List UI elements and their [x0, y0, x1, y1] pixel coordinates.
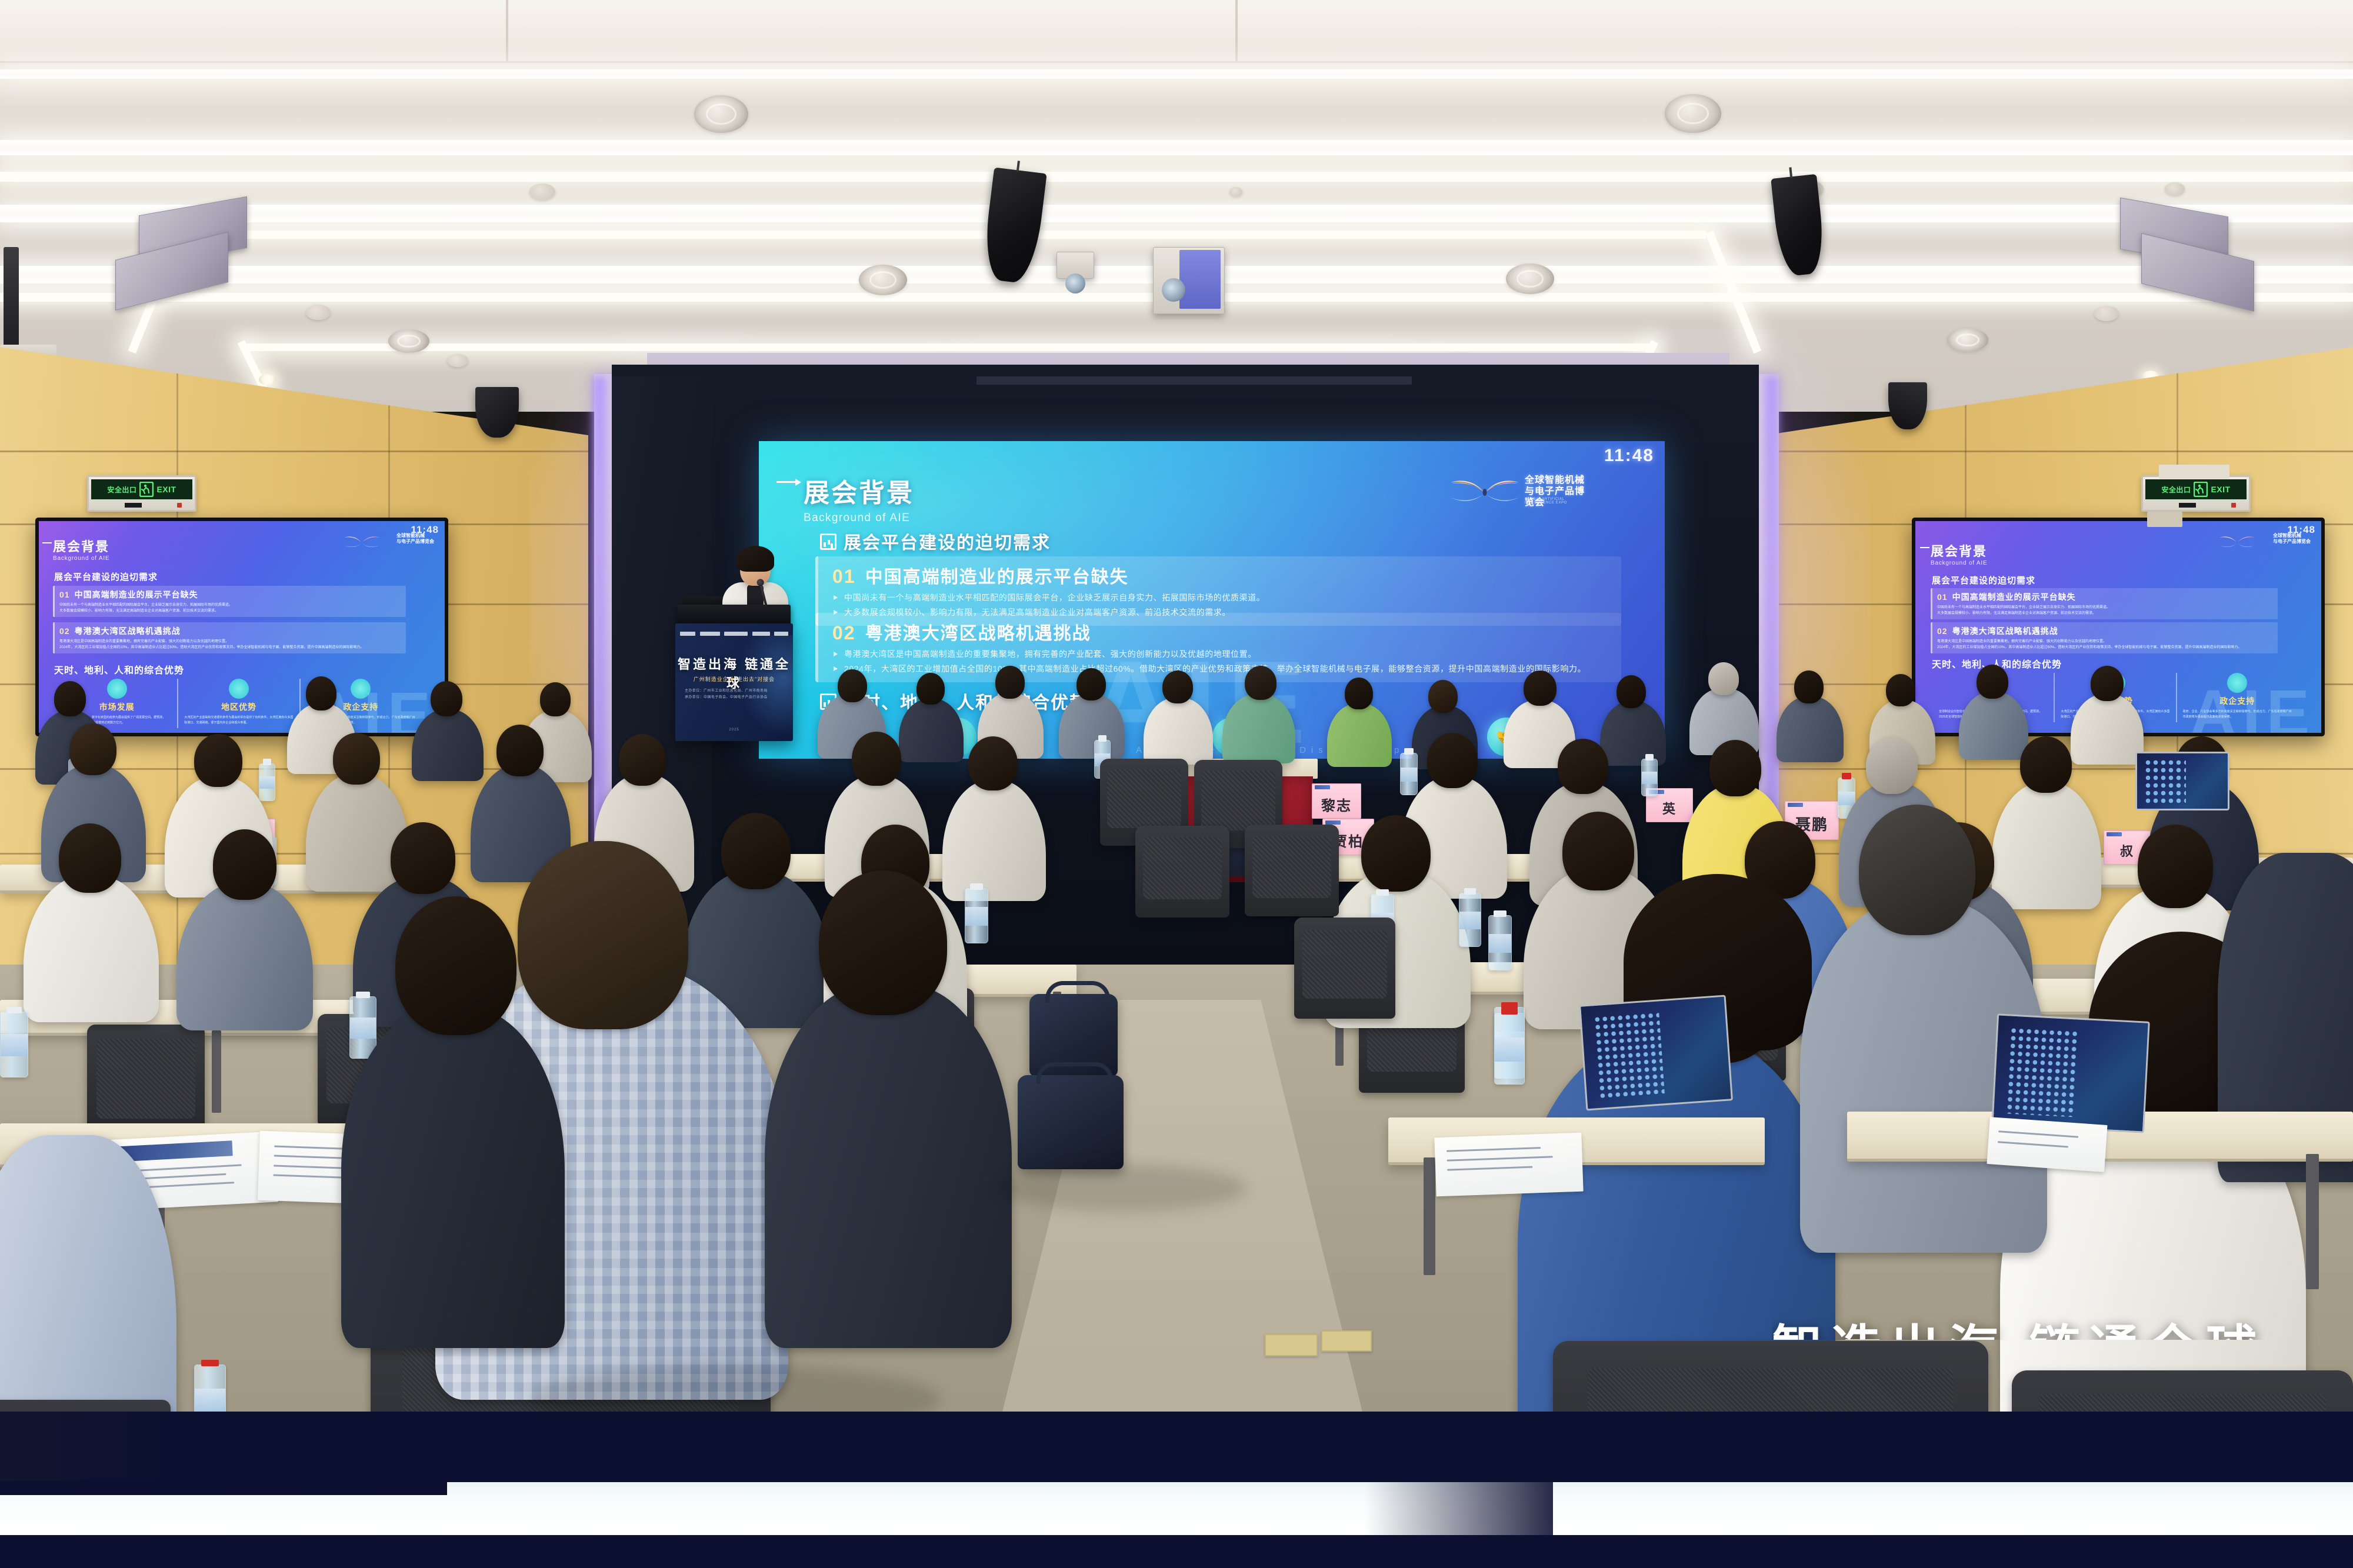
foreground-head — [819, 870, 947, 1015]
right-display-card-01: 01中国高端制造业的展示平台缺失 中国尚未有一个与高端制造业水平相匹配的国际展会… — [1931, 588, 2278, 619]
audience-head — [1245, 666, 1277, 700]
audience-head — [391, 822, 455, 894]
audience-head — [2020, 736, 2072, 793]
overlay-band-navy-bottom — [0, 1535, 2353, 1568]
overlay-band-notch-2 — [0, 1481, 447, 1495]
left-display-section-2: 天时、地利、人和的综合优势 — [54, 662, 184, 676]
overlay-band-notch — [0, 1412, 447, 1484]
audience-head — [213, 829, 276, 900]
backpack — [1018, 1075, 1124, 1169]
water-bottle — [1459, 893, 1481, 947]
bottle-label — [1459, 912, 1481, 930]
arrow-icon — [1920, 547, 1929, 548]
water-bottle — [0, 1012, 28, 1077]
podium-banner: 智造出海 链通全球 广州制造业企业"走出去"对接会 主办单位：广州市工业和信息化… — [675, 623, 793, 741]
podium-sub-slogan: 广州制造业企业"走出去"对接会 — [675, 675, 793, 683]
exit-sign-right: 安全出口 EXIT — [2141, 475, 2251, 512]
ceiling-projector — [1153, 247, 1225, 314]
audience-head — [1427, 733, 1478, 788]
exit-sign-label-en: EXIT — [2211, 485, 2230, 494]
audience-head — [1859, 805, 1975, 935]
ceiling-top-slab — [0, 0, 2353, 62]
name-card-logo — [2107, 832, 2122, 836]
card-heading: 01中国高端制造业的展示平台缺失 — [832, 562, 1611, 588]
audience-head — [995, 666, 1025, 699]
audience-head — [1886, 674, 1915, 706]
name-card-text: 黎志 — [1312, 794, 1361, 815]
water-bottle — [1641, 759, 1658, 796]
smoke-detector — [306, 305, 331, 320]
sponsor-logo — [700, 632, 720, 636]
audience-head — [1794, 670, 1824, 703]
conference-hall-photo: AIE Bay Area Intelligence Display Expo 1… — [0, 0, 2353, 1568]
audience-head — [1708, 662, 1739, 695]
audience-head — [2091, 666, 2124, 701]
bottle-label — [1, 1034, 28, 1056]
ceiling-downlight — [259, 374, 276, 385]
sponsor-logo — [752, 632, 770, 636]
floor-shadow — [1000, 1165, 1247, 1212]
card-bullet: 2024年，大湾区的工业增加值占全国的10%，其中高端制造业占比超过60%。借助… — [832, 663, 1611, 676]
handout — [1987, 1117, 2107, 1172]
exit-sign-label-cn: 安全出口 — [107, 485, 136, 495]
water-bottle — [1400, 753, 1418, 795]
audience-head — [852, 732, 901, 786]
hvac-diffuser — [1665, 94, 1721, 133]
bottle-label — [350, 1017, 376, 1038]
audience-head — [1866, 738, 1918, 794]
presenter-hair — [736, 546, 774, 572]
bottle-label — [1401, 768, 1417, 782]
desk-leg — [2306, 1154, 2319, 1289]
ceiling-light-band — [0, 140, 2353, 155]
right-display-title-group: 展会背景 Background of AIE — [1931, 541, 1987, 566]
audience-head — [619, 734, 666, 786]
audience-head — [721, 813, 791, 889]
foreground-person-navy — [341, 1007, 565, 1348]
projector-lens — [1162, 278, 1185, 302]
hvac-diffuser — [1506, 263, 1554, 294]
bottle-label — [195, 1389, 225, 1412]
advantage-column: 地区优势 大湾区的产业基础和交通便利条件为展会的举办提供了有利条件。大湾区拥有众… — [177, 679, 299, 728]
left-display-title-group: 展会背景 Background of AIE — [53, 536, 109, 562]
globe-network-icon — [107, 679, 127, 699]
smoke-detector — [1229, 187, 1242, 196]
hvac-diffuser — [1947, 328, 1988, 352]
audience-head — [1709, 740, 1761, 796]
laptop-screen — [1579, 995, 1733, 1110]
smoke-detector — [2094, 306, 2119, 321]
audience-chair — [1135, 826, 1229, 918]
left-display-subtitle: Background of AIE — [53, 555, 109, 562]
card-bullet: 粤港澳大湾区是中国高端制造业的重要集聚地，拥有完善的产业配套、强大的创新能力以及… — [832, 648, 1611, 661]
exit-sign-label-en: EXIT — [156, 485, 176, 494]
audience-head — [838, 669, 867, 702]
audience-head — [1345, 678, 1373, 709]
butterfly-logo-icon — [2219, 534, 2255, 551]
left-side-display: 11:48 全球智能机械 与电子产品博览会 展会背景 Background of… — [35, 518, 448, 736]
ceiling-projector-secondary — [1056, 252, 1094, 279]
right-display-card-02: 02粤港澳大湾区战略机遇挑战 粤港澳大湾区是中国高端制造业的重要集聚地，拥有完善… — [1931, 622, 2278, 653]
laptop-screen — [1991, 1013, 2150, 1133]
exit-sign-label-cn: 安全出口 — [2161, 485, 2191, 495]
name-card: 黎志 — [1312, 783, 1361, 819]
lectern-top — [678, 605, 791, 626]
wall-panel — [2159, 465, 2229, 479]
audience-head — [306, 676, 336, 710]
laptop-app-grid — [1593, 1012, 1665, 1098]
overlay-band-fade — [1365, 1482, 1553, 1536]
laptop-screen — [2135, 752, 2229, 810]
bottle-label — [259, 776, 275, 789]
foreground-person-dark — [765, 983, 1012, 1348]
hvac-diffuser — [694, 95, 748, 133]
hvac-diffuser — [388, 329, 429, 353]
audience-head — [1162, 670, 1193, 703]
section-heading-1: 展会平台建设的迫切需求 — [820, 528, 1051, 554]
aie-logo: 全球智能机械 与电子产品博览会 GLOBAL ARTIFICIAL INTELL… — [1449, 474, 1591, 509]
left-display-card-01: 01中国高端制造业的展示平台缺失 中国尚未有一个与高端制造业水平相匹配的国际展会… — [53, 586, 406, 617]
slide-title: 展会背景 — [804, 472, 914, 509]
card-bullet: 中国尚未有一个与高端制造业水平相匹配的国际展会平台，企业缺乏展示自身实力、拓展国… — [832, 592, 1611, 605]
audience-head — [1524, 670, 1557, 706]
right-display-logo-title: 全球智能机械 与电子产品博览会 — [2273, 533, 2311, 545]
bottle-label — [1489, 934, 1511, 952]
audience-head — [1977, 665, 2008, 699]
stage-ceiling-trim — [976, 376, 1412, 385]
audience-head — [968, 736, 1018, 790]
right-display-title: 展会背景 — [1931, 541, 1987, 560]
laptop-app-grid — [2006, 1027, 2079, 1117]
sponsor-logo — [724, 632, 748, 636]
arrow-icon — [776, 481, 800, 483]
aie-watermark: AIE — [2190, 676, 2315, 733]
audience-head — [333, 733, 380, 785]
desk-leg — [212, 1030, 221, 1113]
smoke-detector — [2165, 182, 2185, 195]
projector-lens — [1065, 273, 1085, 293]
section-marker-icon — [820, 533, 836, 550]
hvac-diffuser — [859, 265, 907, 295]
bottle-label — [965, 907, 988, 925]
slide-subtitle: Background of AIE — [804, 512, 914, 525]
handout — [1434, 1133, 1583, 1197]
slide-title-group: 展会背景 Background of AIE — [804, 472, 914, 525]
city-skyline-icon — [229, 679, 249, 699]
screen-clock: 11:48 — [1604, 446, 1654, 466]
projector-indicator — [1179, 250, 1221, 309]
water-bottle — [1488, 915, 1512, 970]
arrow-icon — [42, 542, 52, 543]
audience-head — [194, 734, 242, 787]
foreground-head — [518, 841, 688, 1029]
podium-sponsor-logos — [680, 630, 788, 636]
audience-head — [540, 682, 571, 716]
butterfly-logo-icon — [344, 534, 380, 551]
card-number: 02 — [832, 622, 856, 643]
audience-chair — [1294, 918, 1395, 1019]
ceiling — [0, 0, 2353, 412]
sponsor-logo — [680, 632, 695, 636]
audience-head — [496, 725, 544, 776]
audience-head — [431, 681, 462, 716]
water-bottle — [349, 996, 376, 1059]
smoke-detector — [529, 184, 555, 200]
water-bottle — [1494, 1013, 1525, 1085]
audience-laptop — [2135, 752, 2229, 810]
audience-head — [69, 723, 116, 775]
left-display-title: 展会背景 — [53, 536, 109, 555]
smoke-detector — [447, 354, 468, 367]
podium-organizers: 主办单位：广州市工业和信息化局、广州市商务局 承办单位：中国电子商会、中国电子产… — [685, 688, 784, 702]
floor-marker — [1321, 1330, 1372, 1352]
left-display-logo-title: 全球智能机械 与电子产品博览会 — [396, 533, 434, 545]
audience-head — [1428, 680, 1458, 713]
aie-logo-subtitle: GLOBAL ARTIFICIAL INTELLIGENCE EXPO — [1525, 498, 1591, 505]
ceiling-seam — [506, 0, 508, 61]
water-bottle — [965, 888, 988, 943]
audience-laptop — [1579, 995, 1733, 1110]
card-number: 01 — [832, 566, 856, 587]
audience-head — [54, 681, 86, 716]
desk-leg — [1424, 1157, 1435, 1275]
ceiling-light-band — [0, 205, 2353, 222]
audience-head — [1558, 739, 1608, 794]
running-person-icon — [2194, 482, 2208, 497]
name-card-logo — [1788, 803, 1803, 807]
audience-head — [2138, 825, 2213, 908]
foreground-head — [395, 896, 516, 1035]
ceiling-light-strip — [0, 172, 2353, 182]
bottle-label — [1495, 1037, 1524, 1062]
audience-head — [1562, 812, 1634, 890]
audience-laptop — [1991, 1013, 2150, 1133]
audience-head — [59, 823, 121, 893]
right-display-section-1: 展会平台建设的迫切需求 — [1932, 574, 2035, 586]
butterfly-logo-icon — [1449, 476, 1520, 507]
left-display-card-02: 02粤港澳大湾区战略机遇挑战 粤港澳大湾区是中国高端制造业的重要集聚地，拥有完善… — [53, 622, 406, 653]
floor-marker — [1265, 1334, 1318, 1356]
laptop-app-grid — [2144, 759, 2186, 803]
ceiling-light-band — [0, 69, 2353, 79]
sponsor-logo — [774, 632, 788, 636]
exit-sign-left: 安全出口 EXIT — [87, 475, 196, 512]
card-heading: 02粤港澳大湾区战略机遇挑战 — [832, 619, 1611, 645]
ceiling-seam — [1235, 0, 1238, 61]
ceiling-seam — [0, 61, 2353, 63]
audience-head — [1617, 675, 1646, 708]
water-bottle — [259, 763, 275, 801]
audience-head — [916, 673, 945, 705]
audience-chair — [1245, 825, 1339, 916]
podium-date: 2025 — [675, 728, 793, 732]
name-card-logo — [1325, 820, 1341, 825]
wall-vent — [2147, 512, 2182, 527]
bottle-label — [1642, 772, 1657, 784]
left-display-section-1: 展会平台建设的迫切需求 — [54, 571, 158, 583]
audience-head — [1361, 815, 1431, 892]
audience-head — [1076, 668, 1106, 700]
running-person-icon — [139, 482, 154, 497]
bottle-label — [1838, 792, 1855, 805]
right-display-subtitle: Background of AIE — [1931, 560, 1987, 566]
slide-card-02: 02粤港澳大湾区战略机遇挑战 粤港澳大湾区是中国高端制造业的重要集聚地，拥有完善… — [815, 613, 1621, 682]
left-display-screen: 11:48 全球智能机械 与电子产品博览会 展会背景 Background of… — [39, 521, 445, 733]
podium-slogan: 智造出海 链通全球 — [675, 654, 793, 692]
name-card-logo — [1315, 785, 1330, 789]
name-card-text: 英 — [1647, 799, 1692, 818]
